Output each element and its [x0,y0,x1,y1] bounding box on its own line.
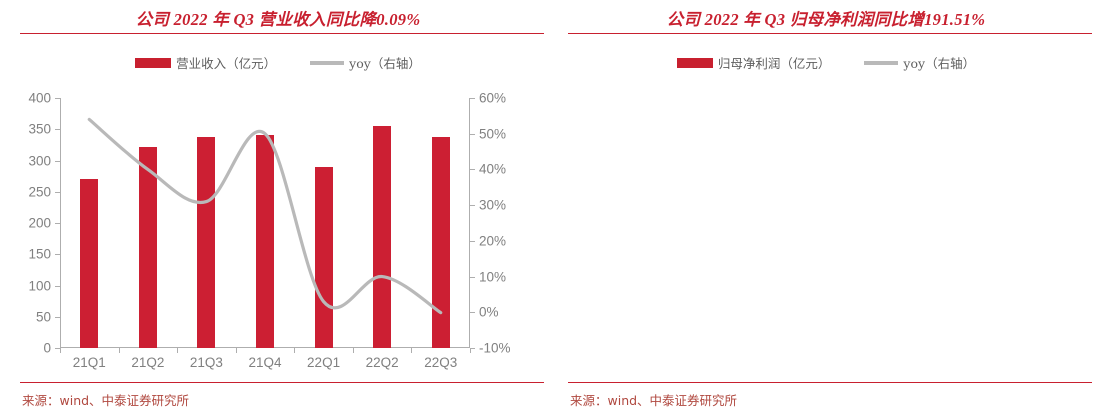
y2-axis-tick [470,134,475,135]
legend: 归母净利润（亿元） yoy（右轴） [556,53,1096,72]
x-axis-tick-label: 21Q3 [190,355,223,370]
legend-label-line: yoy（右轴） [903,53,975,72]
line-swatch-icon [310,61,344,65]
legend-item-line: yoy（右轴） [310,53,421,72]
bar-swatch-icon [135,58,171,68]
panel-revenue: 公司 2022 年 Q3 营业收入同比降0.09% 营业收入（亿元） yoy（右… [8,0,556,416]
x-axis-tick-label: 22Q3 [424,355,457,370]
legend-item-line: yoy（右轴） [864,53,975,72]
page-title: 公司 2022 年 Q3 营业收入同比降0.09% [8,6,548,30]
y-axis-tick-label: 350 [28,122,51,137]
source-divider [20,382,544,383]
legend-item-bar: 归母净利润（亿元） [677,53,831,72]
legend-label-line: yoy（右轴） [349,53,421,72]
y2-axis-tick [470,277,475,278]
legend: 营业收入（亿元） yoy（右轴） [8,53,548,72]
x-axis-tick [236,348,237,353]
panel-net-profit: 公司 2022 年 Q3 归母净利润同比增191.51% 归母净利润（亿元） y… [556,0,1104,416]
y2-axis-tick-label: 0% [479,305,499,320]
x-axis-tick-label: 21Q4 [248,355,281,370]
x-axis-tick [470,348,471,353]
page-title: 公司 2022 年 Q3 归母净利润同比增191.51% [556,6,1096,30]
x-axis-tick [177,348,178,353]
x-axis-tick [119,348,120,353]
figure-pair: 公司 2022 年 Q3 营业收入同比降0.09% 营业收入（亿元） yoy（右… [0,0,1113,416]
y2-axis-tick [470,169,475,170]
y-axis-tick-label: 100 [28,278,51,293]
y-axis-tick-label: 50 [36,309,51,324]
y2-axis-tick-label: 20% [479,233,506,248]
x-axis-tick-label: 22Q2 [366,355,399,370]
y2-axis-tick-label: 50% [479,126,506,141]
source-note: 来源：wind、中泰证券研究所 [22,390,189,409]
legend-label-bar: 营业收入（亿元） [176,53,276,72]
y2-axis-tick-label: 30% [479,198,506,213]
y2-axis-tick-label: 10% [479,269,506,284]
y2-axis-tick-label: -10% [479,341,511,356]
bar-swatch-icon [677,58,713,68]
x-axis-tick [60,348,61,353]
legend-item-bar: 营业收入（亿元） [135,53,276,72]
y-axis-tick-label: 0 [43,341,51,356]
x-axis-tick-label: 21Q1 [73,355,106,370]
y2-axis-tick [470,312,475,313]
x-axis-tick-label: 22Q1 [307,355,340,370]
source-note: 来源：wind、中泰证券研究所 [570,390,737,409]
y2-axis-tick-label: 40% [479,162,506,177]
chart-plot-area-revenue: 050100150200250300350400-10%0%10%20%30%4… [60,98,470,348]
y2-axis-tick [470,98,475,99]
y2-axis-tick [470,205,475,206]
y-axis-tick-label: 200 [28,216,51,231]
x-axis-tick [411,348,412,353]
y-axis-tick-label: 150 [28,247,51,262]
line-swatch-icon [864,61,898,65]
y-axis-tick-label: 400 [28,91,51,106]
legend-label-bar: 归母净利润（亿元） [718,53,831,72]
y2-axis-tick [470,241,475,242]
x-axis-tick-label: 21Q2 [131,355,164,370]
title-divider [20,33,544,34]
yoy-line-path [89,119,440,312]
y-axis-tick-label: 250 [28,184,51,199]
x-axis-tick [353,348,354,353]
source-divider [568,382,1092,383]
y2-axis-tick-label: 60% [479,91,506,106]
yoy-line-series [60,98,470,348]
x-axis-tick [294,348,295,353]
title-divider [568,33,1092,34]
y-axis-tick-label: 300 [28,153,51,168]
